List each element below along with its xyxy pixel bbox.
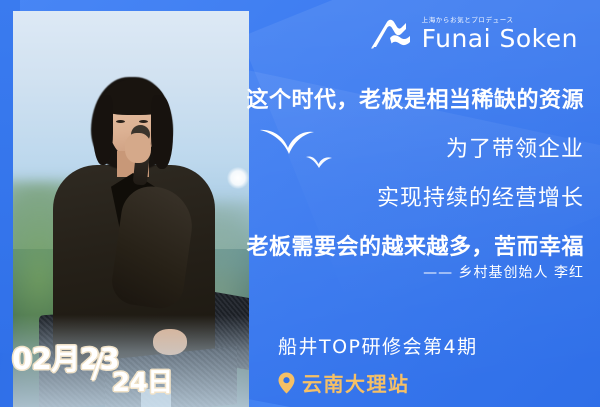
photo-person-hand (125, 133, 151, 163)
photo-person-eye-left (116, 120, 125, 123)
event-date-separator: / (91, 346, 104, 386)
location-pin-icon (278, 372, 295, 394)
photo-person-eye-right (139, 120, 148, 123)
venue-row: 云南大理站 (278, 368, 478, 397)
logo-tagline: 上海からお気とプロデュース (422, 17, 514, 24)
funai-soken-logo: 上海からお気とプロデュース Funai Soken (370, 16, 578, 52)
poster-canvas: 上海からお気とプロデュース Funai Soken 这个时代，老板是相当稀缺的资… (0, 0, 600, 407)
event-date: 02月23 / 24日 (8, 336, 188, 404)
event-date-second: 24日 (112, 362, 173, 399)
event-name: 船井TOP研修会第4期 (278, 332, 478, 359)
footer-block: 船井TOP研修会第4期 云南大理站 (278, 332, 478, 397)
logo-name: Funai Soken (422, 26, 578, 51)
funai-wave-logo-icon (370, 16, 414, 52)
headline-line-4: 老板需要会的越来越多，苦而幸福 (204, 229, 584, 261)
headline-line-2: 为了带领企业 (204, 131, 584, 163)
venue-name: 云南大理站 (302, 368, 410, 397)
photo-person-hair-side-right (151, 95, 173, 169)
headline-block: 这个时代，老板是相当稀缺的资源 为了带领企业 实现持续的经营增长 老板需要会的越… (204, 82, 584, 261)
headline-attribution: —— 乡村基创始人 李红 (423, 262, 584, 282)
photo-person-hair-side-left (93, 95, 113, 165)
headline-line-1: 这个时代，老板是相当稀缺的资源 (204, 82, 584, 114)
headline-line-3: 实现持续的经营增长 (204, 180, 584, 212)
logo-text-group: 上海からお気とプロデュース Funai Soken (422, 17, 578, 52)
